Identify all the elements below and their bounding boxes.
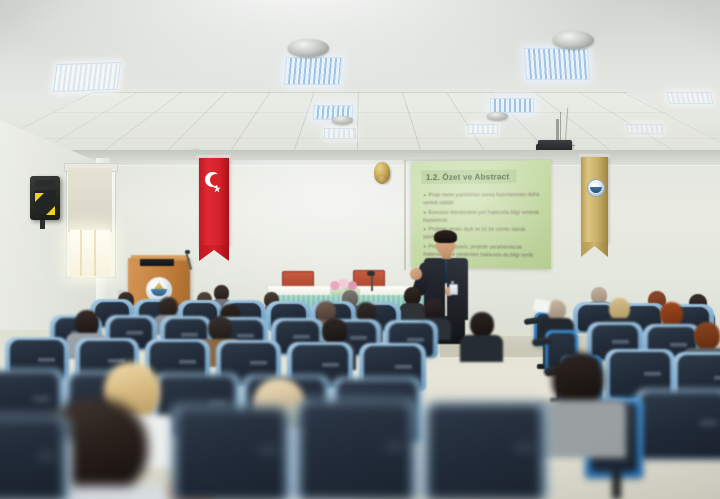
person-head [322, 318, 347, 344]
emblem-water [151, 289, 167, 296]
gold-pennant-banner [581, 157, 608, 243]
ceiling-light-panel [53, 62, 121, 92]
speaker-accent-triangle [46, 206, 55, 215]
auditorium-photo: 1.2. Özet ve Abstract Proje metni yazıld… [0, 0, 720, 499]
slide-bullet: Proje metni yazıldıktan sonra hazırlanma… [423, 191, 544, 208]
ceiling-light-panel [490, 98, 534, 113]
auditorium-seat[interactable] [176, 408, 286, 499]
emblem-crest [154, 282, 164, 289]
person-torso [460, 335, 503, 362]
crescent-icon [205, 172, 220, 187]
window-mullion [80, 230, 82, 276]
slide-bullet: Konunun literatürdeki yeri hakkında bilg… [423, 209, 544, 226]
ceiling-light-panel [626, 124, 664, 134]
auditorium-seat[interactable] [640, 392, 720, 458]
person-head-blonde [609, 298, 630, 320]
person-head-redhair [660, 302, 683, 326]
person-torso [534, 400, 626, 458]
auditorium-seat[interactable] [0, 418, 64, 499]
ceiling-light-panel [667, 92, 714, 104]
turkish-flag-banner [199, 158, 229, 246]
flower-arrangement [328, 279, 362, 290]
person-head [694, 322, 720, 350]
ceiling-light-panel [524, 48, 590, 80]
window-mullion [94, 230, 96, 276]
screen-edge [404, 160, 406, 270]
ceiling-speaker [487, 112, 508, 120]
speaker-bracket [40, 220, 45, 229]
ceiling-speaker [288, 39, 329, 57]
person-head [159, 297, 178, 317]
wall-bust-relief [374, 162, 390, 183]
lectern-screen [140, 259, 174, 266]
person-head [424, 299, 444, 320]
person-head [552, 352, 604, 406]
auditorium-seat[interactable] [428, 404, 542, 499]
seat-leg [612, 472, 621, 499]
auditorium-seat[interactable] [300, 402, 412, 499]
person-head [470, 312, 494, 337]
roller-blind [68, 168, 112, 232]
presenter-hair [434, 230, 457, 243]
ceiling-speaker [332, 116, 353, 124]
speaker-accent-triangle [35, 193, 44, 202]
person-head [208, 316, 232, 341]
person-head [75, 310, 99, 335]
slide-title: 1.2. Özet ve Abstract [421, 169, 516, 184]
table-mic-head [367, 271, 375, 276]
speaker-tweeter-icon [35, 180, 55, 187]
table-mic-stand [371, 275, 373, 291]
ceiling-light-panel [468, 124, 498, 134]
ceiling-light-panel [284, 57, 342, 85]
lectern-mic-head [185, 250, 190, 254]
presenter-name-badge [449, 284, 458, 295]
window-daylight [70, 230, 110, 276]
pa-speaker [30, 176, 60, 220]
institution-emblem-icon [587, 179, 605, 197]
ceiling-light-panel [324, 128, 356, 139]
handout-paper [533, 299, 551, 314]
ceiling-speaker [553, 31, 594, 49]
